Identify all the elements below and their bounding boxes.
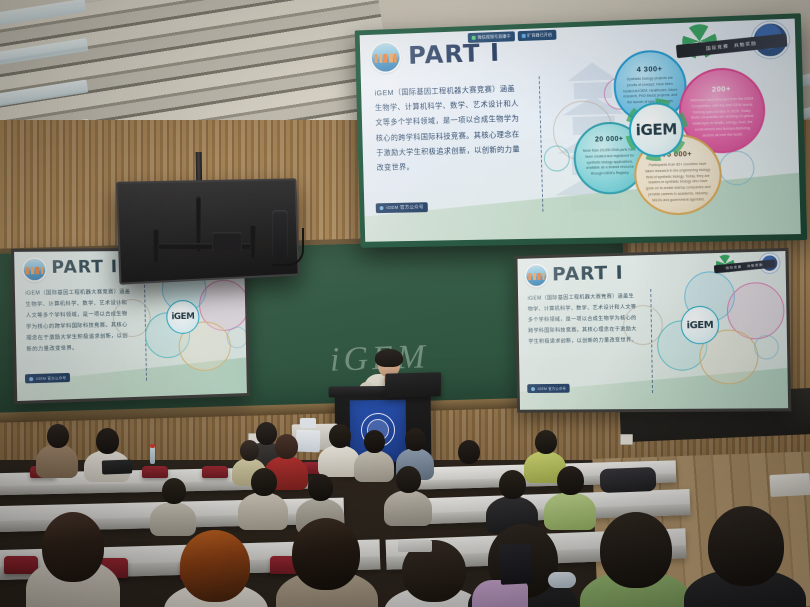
tablet-on-desk: [499, 543, 533, 585]
stat-bubble-200-value: 200+: [680, 83, 762, 95]
audience-person-near-1: [30, 512, 116, 607]
mini-right-title: PART I: [552, 262, 624, 286]
audio-status-chip[interactable]: 扩音器已开启: [517, 29, 556, 40]
monitor-bracket-arm-right: [250, 224, 256, 258]
far-2-head: [96, 428, 119, 454]
slide-title: PART I: [408, 38, 501, 70]
slide-vertical-divider: [539, 76, 544, 212]
stat-bubble-4300-value: 4 300+: [615, 63, 684, 74]
mini-left-title: PART I: [51, 257, 118, 278]
near-5-hood: [472, 580, 528, 607]
mini-right-watermark: iGEM 官方公众号: [527, 384, 570, 393]
water-bottle-on-desk: [150, 446, 155, 464]
near-2-head: [180, 530, 250, 602]
far-1-head: [47, 424, 69, 448]
mini-left-igem-wordmark: iGEM: [171, 312, 194, 322]
mid-1-shoulders: [238, 492, 288, 530]
slide-canvas-right: PART I iGEM（国际基因工程机器大赛竞赛）涵盖生物学、计算机科学、数学、…: [517, 251, 788, 410]
mid-6-head: [162, 478, 186, 504]
igem-wordmark: iGEM: [635, 120, 677, 139]
audience-person-near-3: [282, 518, 372, 607]
presenter-glasses: [380, 360, 398, 365]
slide-university-logo-icon: [371, 43, 400, 72]
slide-emblem-group: 国际竞赛 共勉奖励: [676, 21, 792, 66]
wall-outlet-right: [620, 434, 633, 445]
slide-body-text: iGEM（国际基因工程机器大赛竞赛）涵盖生物学、计算机科学、数学、艺术设计和人文…: [374, 81, 522, 175]
lecture-hall-photo: iGEM 微信视频: [0, 0, 810, 607]
mid-2-head: [308, 474, 333, 501]
stat-bubble-75000-text: Participants from 60+ countries have tak…: [644, 162, 712, 204]
slide-watermark-badge: iGEM 官方公众号: [376, 202, 428, 213]
mini-right-banner-right: 共勉奖励: [747, 263, 764, 269]
audience-person-mid-1: [238, 468, 288, 526]
mini-left-logo-icon: [24, 259, 46, 281]
mini-left-watermark-label: iGEM 官方公众号: [36, 375, 66, 381]
far-7-head: [364, 430, 385, 453]
audience-person-mid-4: [486, 470, 538, 530]
far-8-head: [405, 428, 426, 451]
right-projection-screen[interactable]: PART I iGEM（国际基因工程机器大赛竞赛）涵盖生物学、计算机科学、数学、…: [515, 248, 792, 413]
audience-person-mid-3: [384, 466, 432, 522]
mini-right-banner-left: 国际竞赛: [726, 265, 743, 271]
watermark-dot-icon: [380, 206, 384, 210]
stat-bubble-20000-text: More than 20,000 DNA parts have been cre…: [582, 147, 637, 177]
near-1-head: [42, 512, 104, 582]
mini-left-ring-b: [227, 326, 247, 348]
near-7-head: [708, 506, 784, 586]
mini-right-watermark-label: iGEM 官方公众号: [538, 386, 566, 391]
mini-left-watermark-dot-icon: [29, 377, 33, 381]
main-projection-screen[interactable]: 微信视频号直播中 扩音器已开启 PART I iGEM（国际基因工程机器大赛竞赛…: [355, 13, 808, 248]
near-3-head: [292, 518, 360, 590]
keyboard-on-desk: [398, 540, 432, 552]
city-skyline-icon: [374, 53, 396, 63]
mini-left-city-icon: [26, 267, 44, 274]
audience-person-near-7: [694, 506, 798, 607]
far-10-head: [458, 440, 480, 464]
mini-right-body-text: iGEM（国际基因工程机器大赛竞赛）涵盖生物学、计算机科学、数学、艺术设计和人文…: [528, 291, 638, 347]
speaker-icon: [521, 33, 525, 37]
near-6-head: [600, 512, 672, 588]
mini-right-ring-b: [754, 335, 779, 360]
mid-3-shoulders: [384, 490, 432, 526]
audience-person-near-2: [170, 530, 262, 607]
watermark-label: iGEM 官方公众号: [386, 204, 423, 211]
far-10-shoulders: [448, 461, 488, 493]
paper-bag-right: [769, 473, 810, 497]
mid-4-head: [499, 470, 526, 499]
mini-left-watermark: iGEM 官方公众号: [25, 373, 71, 384]
mini-right-emblem-group: 国际竞赛 共勉奖励: [714, 253, 782, 277]
audio-status-label: 扩音器已开启: [527, 31, 552, 38]
mid-1-head: [251, 468, 277, 496]
mouse-device: [548, 572, 576, 588]
tissue-box: [300, 418, 316, 428]
far-5-head: [240, 440, 259, 461]
monitor-bracket-arm-left: [153, 228, 159, 262]
laptop-on-desk-left: [102, 459, 132, 474]
far-4-head: [275, 434, 298, 459]
monitor-bracket-plate: [212, 232, 242, 252]
audience-person-far-10: [448, 440, 488, 490]
banner-label-right: 共勉奖励: [734, 40, 758, 48]
podium-laptop: [385, 372, 442, 397]
mini-right-watermark-dot-icon: [531, 387, 535, 391]
banner-label-left: 国际竞赛: [706, 43, 729, 51]
stat-bubble-200-text: Webinars have emerged from the iGEM Comp…: [689, 96, 756, 139]
mini-right-igem-wordmark: iGEM: [687, 319, 714, 331]
mini-right-logo-icon: [526, 265, 546, 286]
seat-r1-c: [202, 466, 228, 478]
far-6-head: [329, 424, 351, 448]
mini-right-city-icon: [528, 273, 544, 280]
far-9-head: [535, 430, 557, 454]
mid-3-head: [396, 466, 421, 493]
audience-person-far-1: [36, 424, 78, 474]
far-1-shoulders: [36, 444, 78, 478]
slide-canvas-main: 微信视频号直播中 扩音器已开启 PART I iGEM（国际基因工程机器大赛竞赛…: [360, 19, 801, 242]
backpack-on-desk: [600, 467, 657, 493]
monitor-power-cable: [272, 228, 304, 266]
mid-5-head: [557, 466, 584, 495]
bottle-cap-icon: [150, 444, 155, 448]
audience-person-near-6: [588, 512, 684, 607]
seat-r1-b: [142, 466, 168, 478]
audience-person-mid-6: [150, 478, 196, 532]
